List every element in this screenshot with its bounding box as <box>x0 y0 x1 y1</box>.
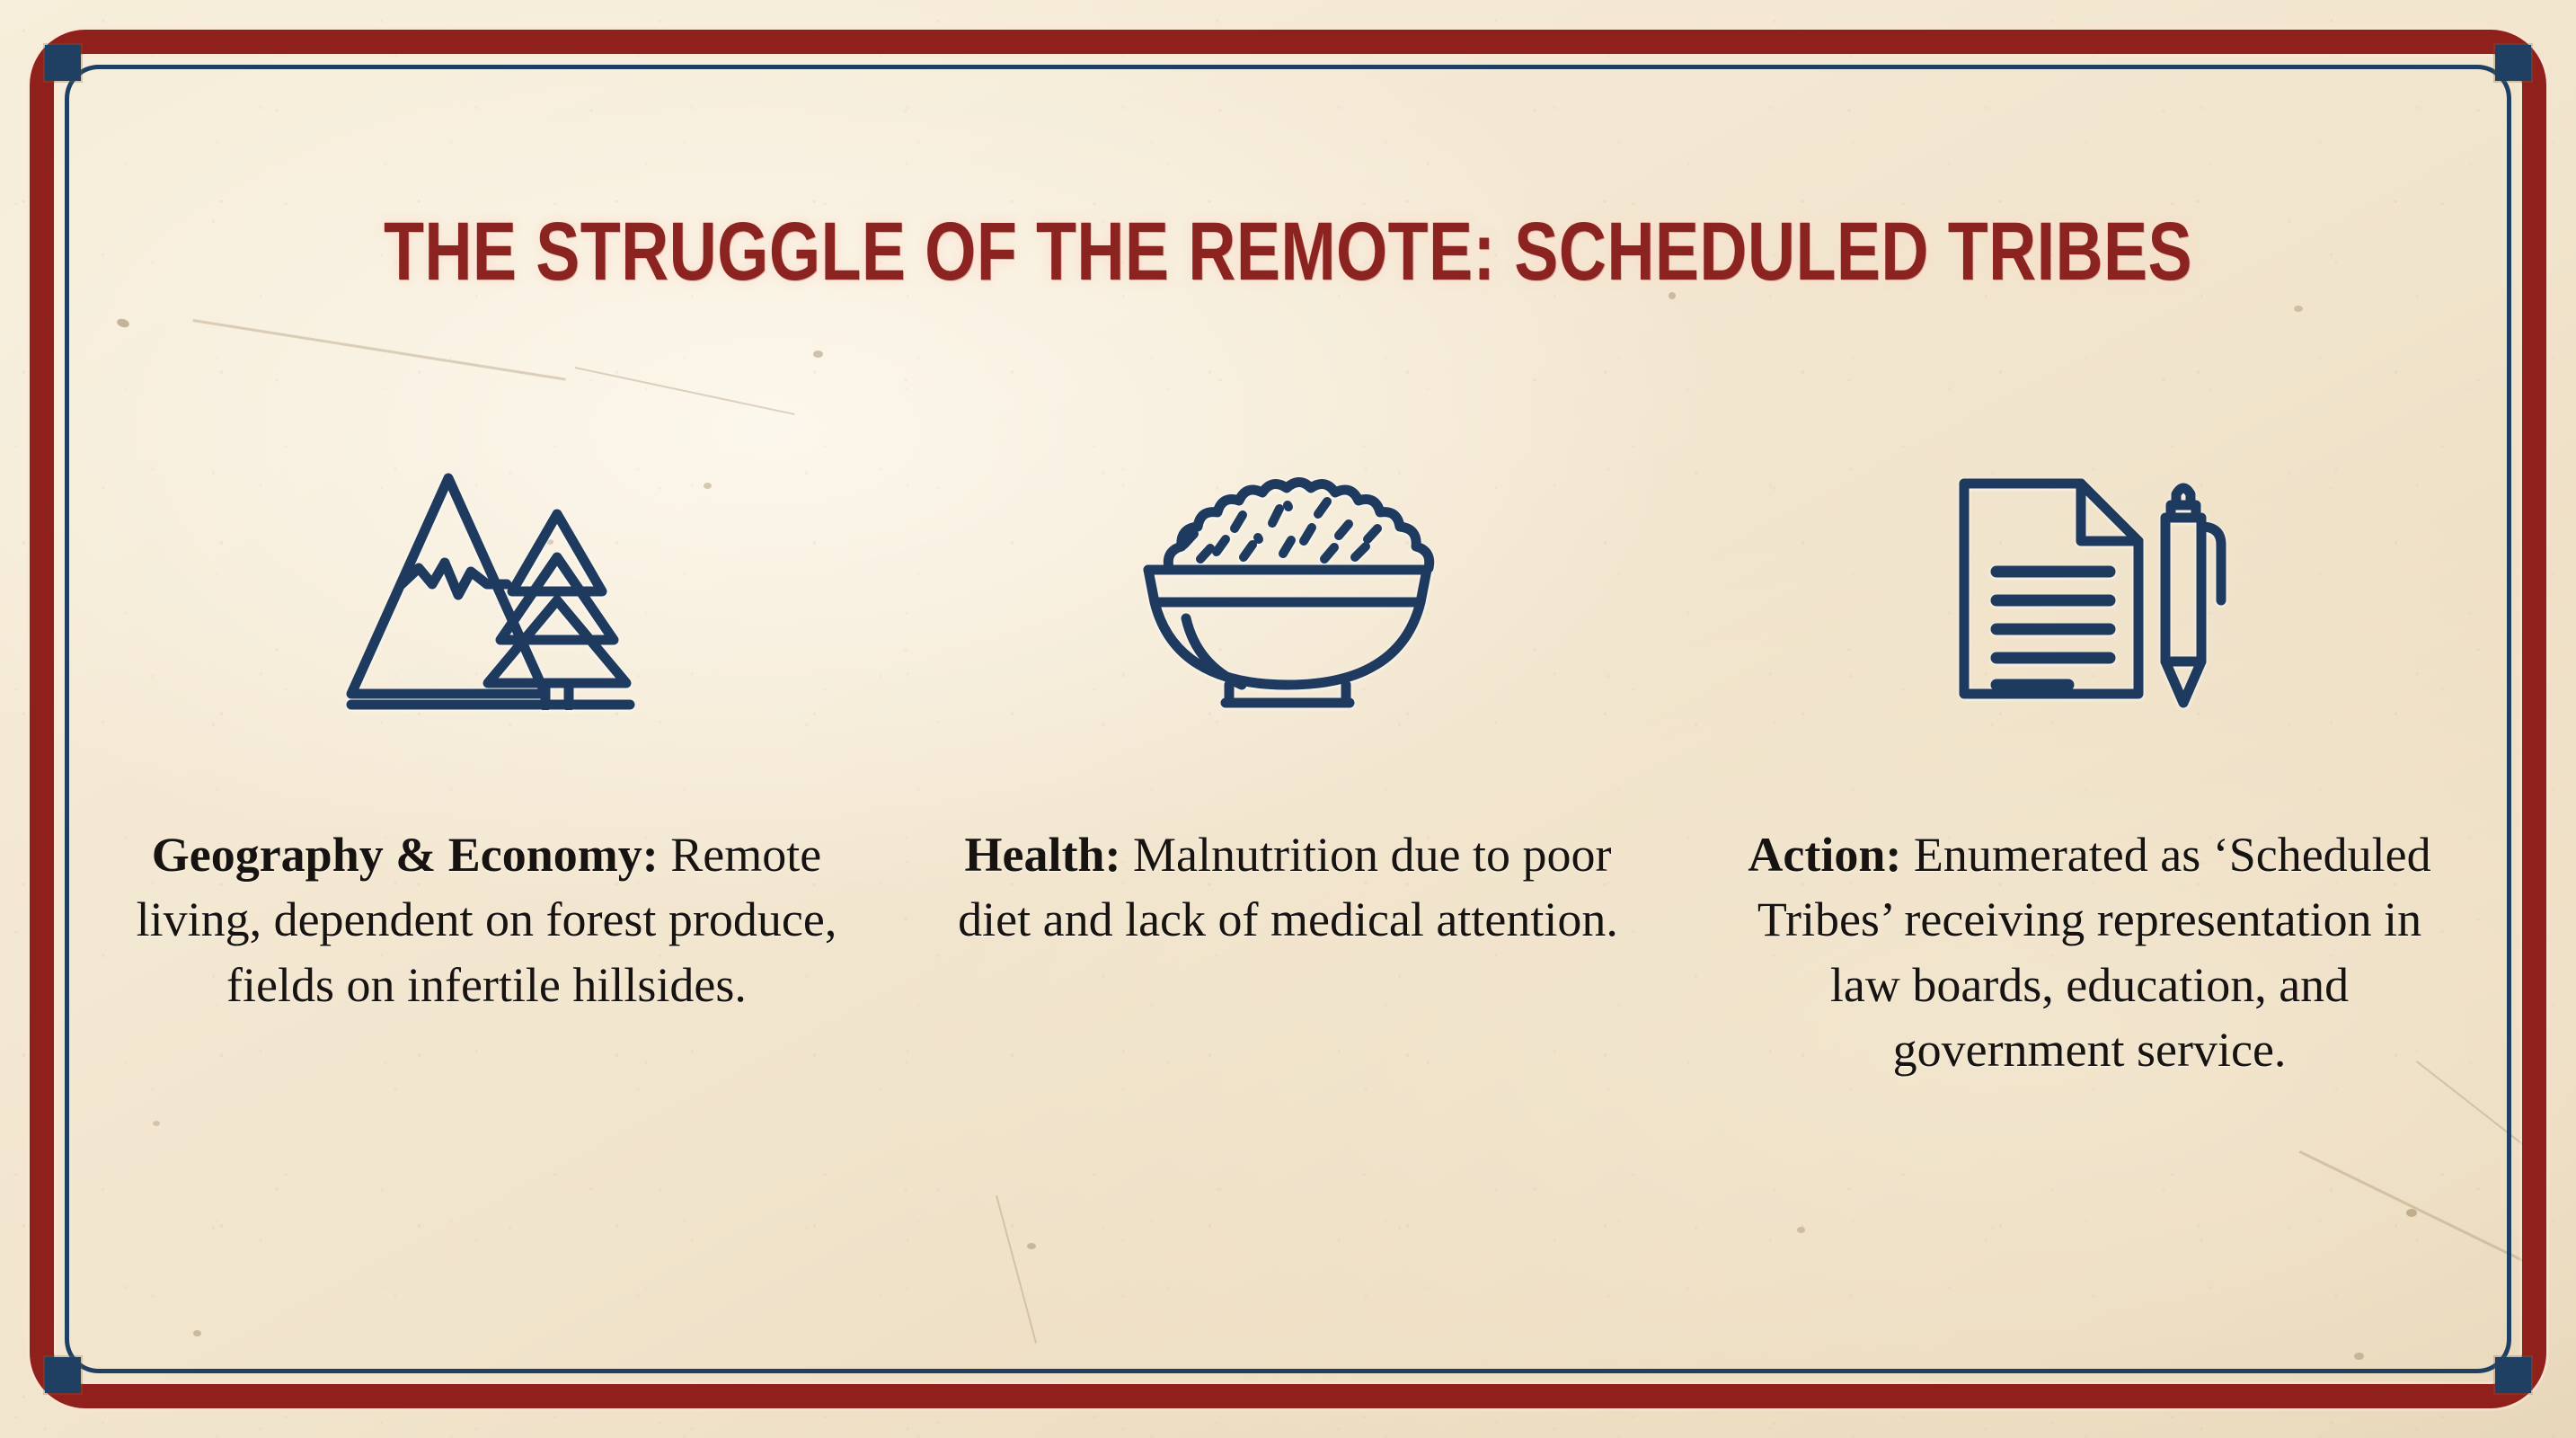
mountains-and-pine-tree-icon <box>333 449 639 719</box>
corner-square-bottom-left <box>45 1357 81 1393</box>
corner-square-top-left <box>45 45 81 81</box>
column-geography-economy-text: Geography & Economy: Remote living, depe… <box>135 822 838 1017</box>
slide-canvas: THE STRUGGLE OF THE REMOTE: SCHEDULED TR… <box>0 0 2576 1438</box>
slide-title: THE STRUGGLE OF THE REMOTE: SCHEDULED TR… <box>258 210 2319 293</box>
column-action-text: Action: Enumerated as ‘Scheduled Tribes’… <box>1738 822 2441 1082</box>
corner-square-top-right <box>2495 45 2531 81</box>
column-geography-economy: Geography & Economy: Remote living, depe… <box>135 449 838 1017</box>
column-health-text: Health: Malnutrition due to poor diet an… <box>936 822 1640 953</box>
corner-square-bottom-right <box>2495 1357 2531 1393</box>
column-label: Action: <box>1748 828 1901 882</box>
column-health: Health: Malnutrition due to poor diet an… <box>936 449 1640 953</box>
column-action: Action: Enumerated as ‘Scheduled Tribes’… <box>1738 449 2441 1082</box>
document-and-pen-icon <box>1946 449 2234 719</box>
column-label: Geography & Economy: <box>152 828 659 882</box>
rice-bowl-icon <box>1139 449 1436 719</box>
column-label: Health: <box>965 828 1121 882</box>
content-columns: Geography & Economy: Remote living, depe… <box>135 449 2441 1082</box>
